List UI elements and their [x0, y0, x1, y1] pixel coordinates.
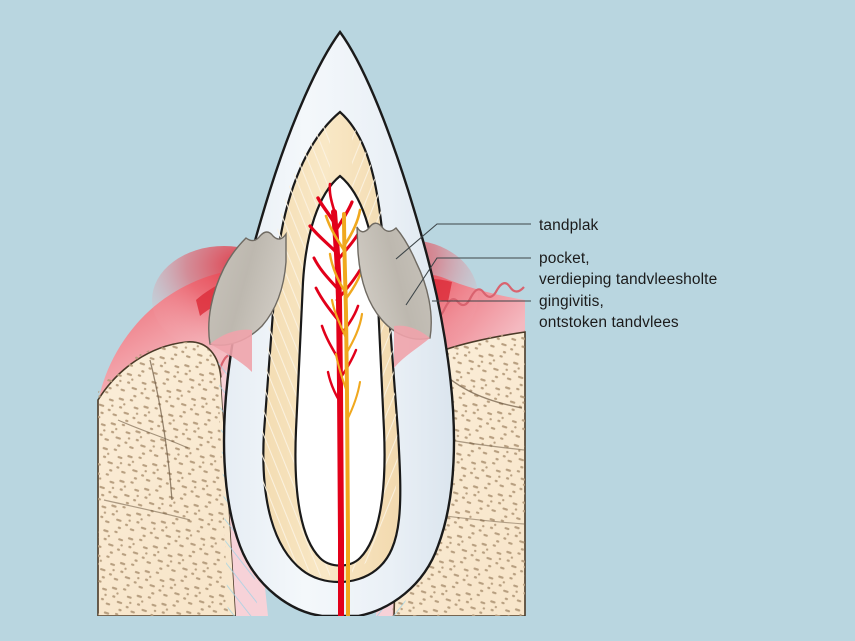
label-pocket-line2: verdieping tandvleesholte — [539, 271, 717, 288]
label-gingivitis-line1: gingivitis, — [539, 293, 604, 310]
label-pocket-line1: pocket, — [539, 250, 590, 267]
label-gingivitis-line2: ontstoken tandvlees — [539, 314, 679, 331]
illustration-stage: tandplak pocket, verdieping tandvleeshol… — [0, 0, 855, 641]
dental-cross-section-figure: tandplak pocket, verdieping tandvleeshol… — [0, 0, 855, 641]
label-tandplak-line1: tandplak — [539, 217, 599, 234]
